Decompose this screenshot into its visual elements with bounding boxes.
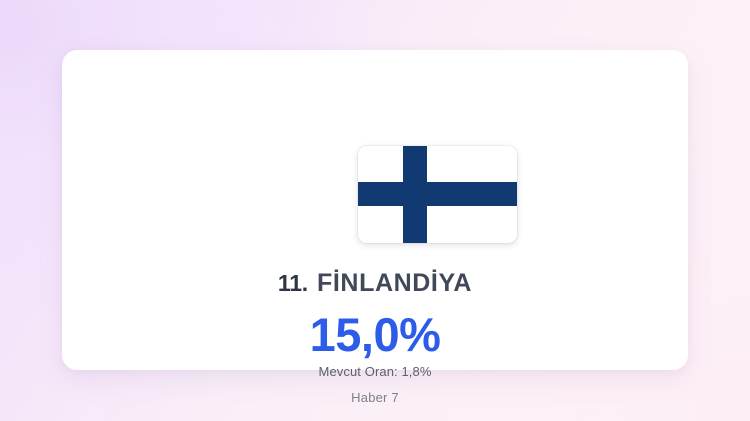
primary-percentage-value: 15,0%	[62, 311, 688, 358]
finland-flag-svg	[358, 146, 517, 243]
current-rate-label: Mevcut Oran: 1,8%	[62, 364, 688, 379]
source-attribution: Haber 7	[0, 390, 750, 405]
country-heading: 11.FİNLANDİYA	[62, 269, 688, 298]
country-name-label: FİNLANDİYA	[317, 269, 472, 297]
rank-number: 11.	[278, 270, 308, 296]
country-stat-card: 11.FİNLANDİYA 15,0% Mevcut Oran: 1,8%	[62, 50, 688, 370]
screen-background: 11.FİNLANDİYA 15,0% Mevcut Oran: 1,8% Ha…	[0, 0, 750, 421]
finland-flag-icon	[358, 146, 517, 243]
